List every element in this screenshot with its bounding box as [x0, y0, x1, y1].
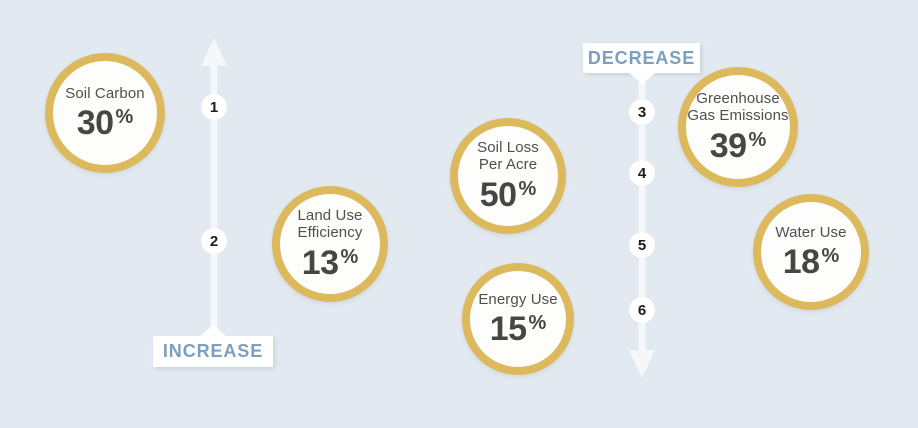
stat-value: 15 % [490, 312, 547, 346]
stat-circle-energy-use: Energy Use 15 % [462, 263, 574, 375]
stat-circle-greenhouse-gas-emissions: Greenhouse Gas Emissions 39 % [678, 67, 798, 187]
step-number: 3 [638, 105, 646, 120]
step-badge-6: 6 [629, 297, 655, 323]
stat-label: Energy Use [478, 292, 557, 309]
stat-value: 13 % [302, 246, 359, 280]
stat-circle-land-use-efficiency: Land Use Efficiency 13 % [272, 186, 388, 302]
infographic-canvas: 1 2 INCREASE 3 4 5 6 DECREASE Soil Carbo… [0, 0, 918, 428]
stat-unit: % [116, 107, 134, 127]
stat-number: 13 [302, 246, 339, 280]
step-number: 2 [210, 234, 218, 249]
stat-unit: % [341, 247, 359, 267]
stat-number: 50 [480, 178, 517, 212]
stat-number: 39 [710, 129, 747, 163]
decrease-banner-label: DECREASE [588, 48, 695, 69]
step-number: 4 [638, 166, 646, 181]
stat-number: 18 [783, 245, 820, 279]
stat-label: Soil Carbon [65, 86, 144, 103]
stat-number: 30 [77, 106, 114, 140]
banner-notch-icon [629, 73, 655, 84]
stat-circle-soil-carbon: Soil Carbon 30 % [45, 53, 165, 173]
stat-circle-soil-loss-per-acre: Soil Loss Per Acre 50 % [450, 118, 566, 234]
stat-number: 15 [490, 312, 527, 346]
banner-notch-icon [200, 325, 226, 336]
increase-banner: INCREASE [153, 336, 273, 367]
stat-label: Water Use [775, 225, 846, 242]
stat-unit: % [822, 246, 840, 266]
stat-label: Soil Loss Per Acre [477, 140, 539, 174]
step-badge-4: 4 [629, 160, 655, 186]
stat-circle-water-use: Water Use 18 % [753, 194, 869, 310]
stat-label: Land Use Efficiency [297, 208, 362, 242]
stat-value: 18 % [783, 245, 840, 279]
stat-unit: % [529, 313, 547, 333]
increase-arrow [196, 38, 232, 350]
step-badge-5: 5 [629, 232, 655, 258]
stat-value: 50 % [480, 178, 537, 212]
stat-unit: % [749, 130, 767, 150]
step-badge-1: 1 [201, 94, 227, 120]
increase-banner-label: INCREASE [163, 341, 263, 362]
step-badge-2: 2 [201, 228, 227, 254]
step-number: 5 [638, 238, 646, 253]
stat-label: Greenhouse Gas Emissions [687, 91, 788, 125]
step-number: 1 [210, 100, 218, 115]
stat-value: 30 % [77, 106, 134, 140]
decrease-banner: DECREASE [583, 43, 700, 73]
stat-value: 39 % [710, 129, 767, 163]
step-badge-3: 3 [629, 99, 655, 125]
step-number: 6 [638, 303, 646, 318]
stat-unit: % [519, 179, 537, 199]
